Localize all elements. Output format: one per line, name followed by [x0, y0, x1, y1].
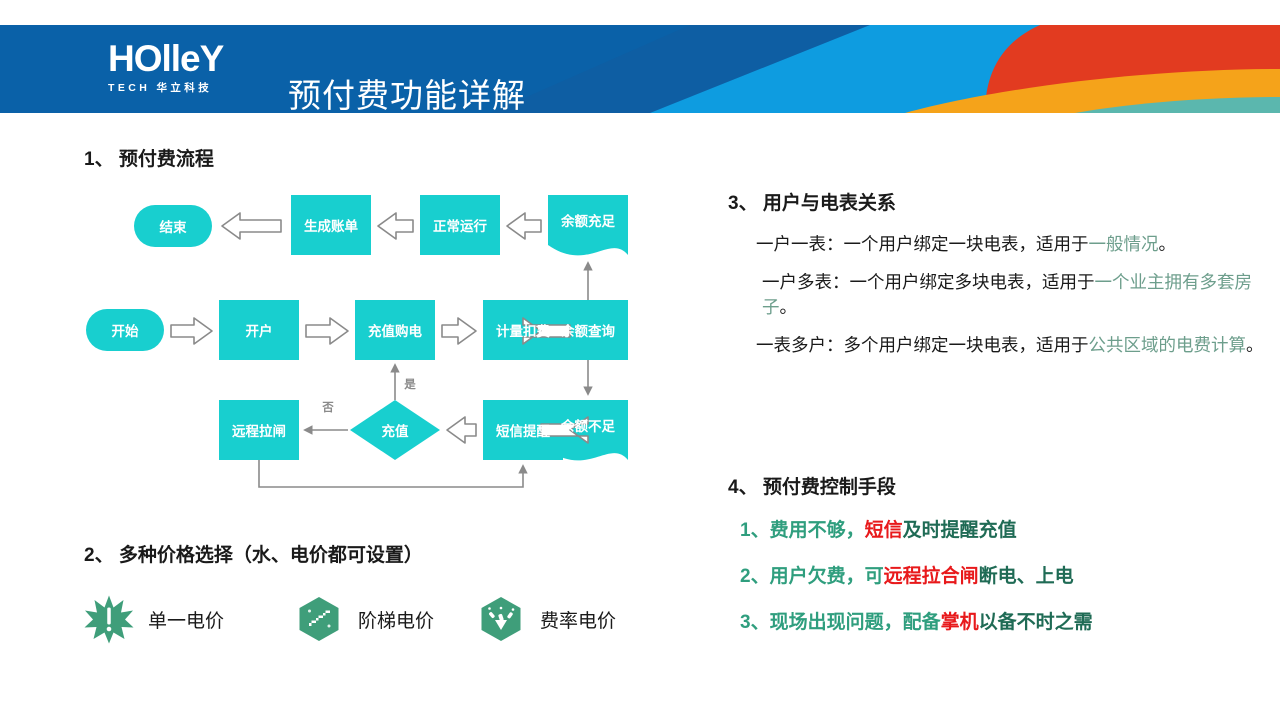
user-meter-relations-list: 一户一表：一个用户绑定一块电表，适用于一般情况。 一户多表：一个用户绑定多块电表… — [756, 232, 1276, 371]
measure-text-b: 及时提醒充值 — [903, 520, 1017, 541]
section-4-heading: 4、 预付费控制手段 — [728, 472, 896, 499]
measure-number: 2、 — [740, 566, 770, 587]
flowchart-graphic — [80, 175, 700, 495]
section-3-heading: 3、 用户与电表关系 — [728, 188, 896, 215]
measure-text-b: 以备不时之需 — [979, 612, 1093, 633]
logo-tagline: TECH 华立科技 — [108, 80, 264, 95]
node-start-shape — [86, 309, 164, 351]
hexagon-stairs-icon — [294, 594, 344, 644]
node-normal-shape — [420, 195, 500, 255]
relation-item-one-to-one: 一户一表：一个用户绑定一块电表，适用于一般情况。 — [756, 232, 1276, 257]
control-measure-2: 2、用户欠费，可远程拉合闸断电、上电 — [740, 564, 1270, 590]
price-option-tiered[interactable]: 阶梯电价 — [294, 590, 434, 648]
relation-prefix: 一户一表：一个用户绑定一块电表，适用于 — [756, 234, 1089, 254]
control-measures-list: 1、费用不够，短信及时提醒充值 2、用户欠费，可远程拉合闸断电、上电 3、现场出… — [740, 518, 1270, 656]
measure-number: 3、 — [740, 612, 770, 633]
prepaid-process-flowchart: 结束 生成账单 正常运行 余额充足 开始 开户 充值购电 计量扣费 余额查询 远… — [80, 175, 700, 495]
relation-item-one-to-many: 一户多表：一个用户绑定多块电表，适用于一个业主拥有多套房子。 — [756, 270, 1276, 320]
relation-prefix: 一表多户：多个用户绑定一块电表，适用于 — [756, 335, 1089, 355]
slide-canvas: HOlleY TECH 华立科技 预付费功能详解 1、 预付费流程 2、 多种价… — [0, 0, 1280, 720]
relation-prefix: 一户多表：一个用户绑定多块电表，适用于 — [762, 272, 1095, 292]
node-enough-shape — [548, 195, 628, 255]
holley-logo: HOlleY TECH 华立科技 — [108, 39, 264, 97]
logo-wordmark: HOlleY — [108, 39, 264, 79]
measure-emphasis: 远程拉合闸 — [884, 566, 979, 587]
price-option-rate[interactable]: 费率电价 — [476, 590, 616, 648]
section-1-heading: 1、 预付费流程 — [84, 144, 214, 171]
slide-header: HOlleY TECH 华立科技 预付费功能详解 — [0, 25, 1280, 113]
measure-emphasis: 掌机 — [941, 612, 979, 633]
control-measure-1: 1、费用不够，短信及时提醒充值 — [740, 518, 1270, 544]
node-recharge-shape — [355, 300, 435, 360]
relation-highlight: 公共区域的电费计算 — [1089, 335, 1247, 355]
price-option-tiered-label: 阶梯电价 — [358, 606, 434, 633]
node-topup-shape — [350, 400, 440, 460]
page-title: 预付费功能详解 — [288, 69, 526, 113]
node-bill-shape — [291, 195, 371, 255]
section-2-heading: 2、 多种价格选择（水、电价都可设置） — [84, 540, 423, 567]
control-measure-3: 3、现场出现问题，配备掌机以备不时之需 — [740, 610, 1270, 636]
relation-suffix: 。 — [1159, 234, 1177, 254]
price-option-rate-label: 费率电价 — [540, 606, 616, 633]
hexagon-rate-icon — [476, 594, 526, 644]
relation-suffix: 。 — [1246, 335, 1264, 355]
relation-suffix: 。 — [780, 297, 798, 317]
edge-label-yes: 是 — [404, 376, 416, 392]
relation-highlight: 一般情况 — [1089, 234, 1159, 254]
measure-text-a: 用户欠费，可 — [770, 566, 884, 587]
relation-item-many-to-one: 一表多户：多个用户绑定一块电表，适用于公共区域的电费计算。 — [756, 333, 1276, 358]
node-end-shape — [134, 205, 212, 247]
starburst-alert-icon — [84, 594, 134, 644]
price-options-row: 单一电价 阶梯电价 — [84, 590, 684, 650]
node-cutoff-shape — [219, 400, 299, 460]
edge-label-no: 否 — [322, 399, 334, 415]
measure-text-b: 断电、上电 — [979, 566, 1074, 587]
measure-text-a: 费用不够， — [770, 520, 865, 541]
price-option-single[interactable]: 单一电价 — [84, 590, 224, 648]
node-open-shape — [219, 300, 299, 360]
measure-text-a: 现场出现问题，配备 — [770, 612, 941, 633]
measure-number: 1、 — [740, 520, 770, 541]
price-option-single-label: 单一电价 — [148, 606, 224, 633]
measure-emphasis: 短信 — [865, 520, 903, 541]
